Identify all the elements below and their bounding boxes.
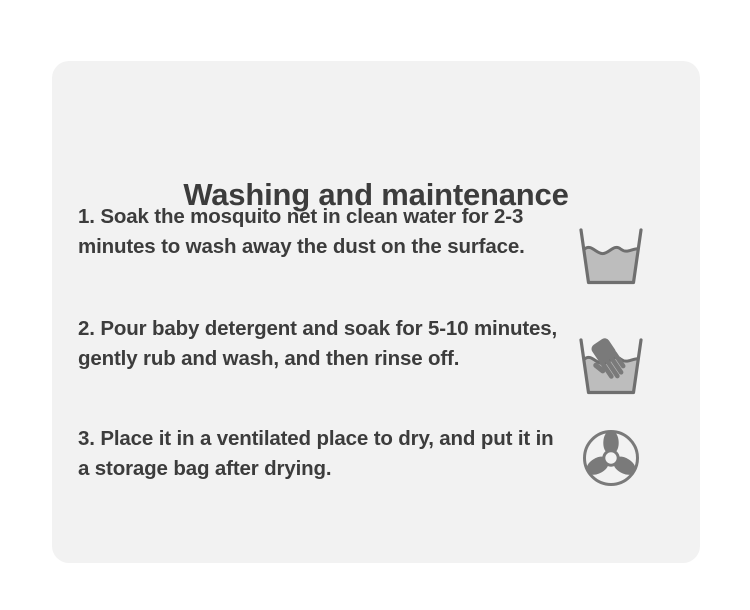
wash-tub-icon (572, 200, 650, 288)
washing-maintenance-card: Washing and maintenance 1. Soak the mosq… (52, 61, 700, 563)
hand-wash-tub-icon (572, 312, 650, 398)
care-step-item: 2. Pour baby detergent and soak for 5-10… (78, 312, 674, 398)
care-step-item: 3. Place it in a ventilated place to dry… (78, 422, 674, 489)
care-step-text: 3. Place it in a ventilated place to dry… (78, 422, 558, 484)
care-step-text: 1. Soak the mosquito net in clean water … (78, 200, 558, 262)
fan-dry-icon (572, 422, 650, 489)
care-step-item: 1. Soak the mosquito net in clean water … (78, 200, 674, 288)
care-step-text: 2. Pour baby detergent and soak for 5-10… (78, 312, 558, 374)
care-steps-list: 1. Soak the mosquito net in clean water … (78, 200, 674, 489)
